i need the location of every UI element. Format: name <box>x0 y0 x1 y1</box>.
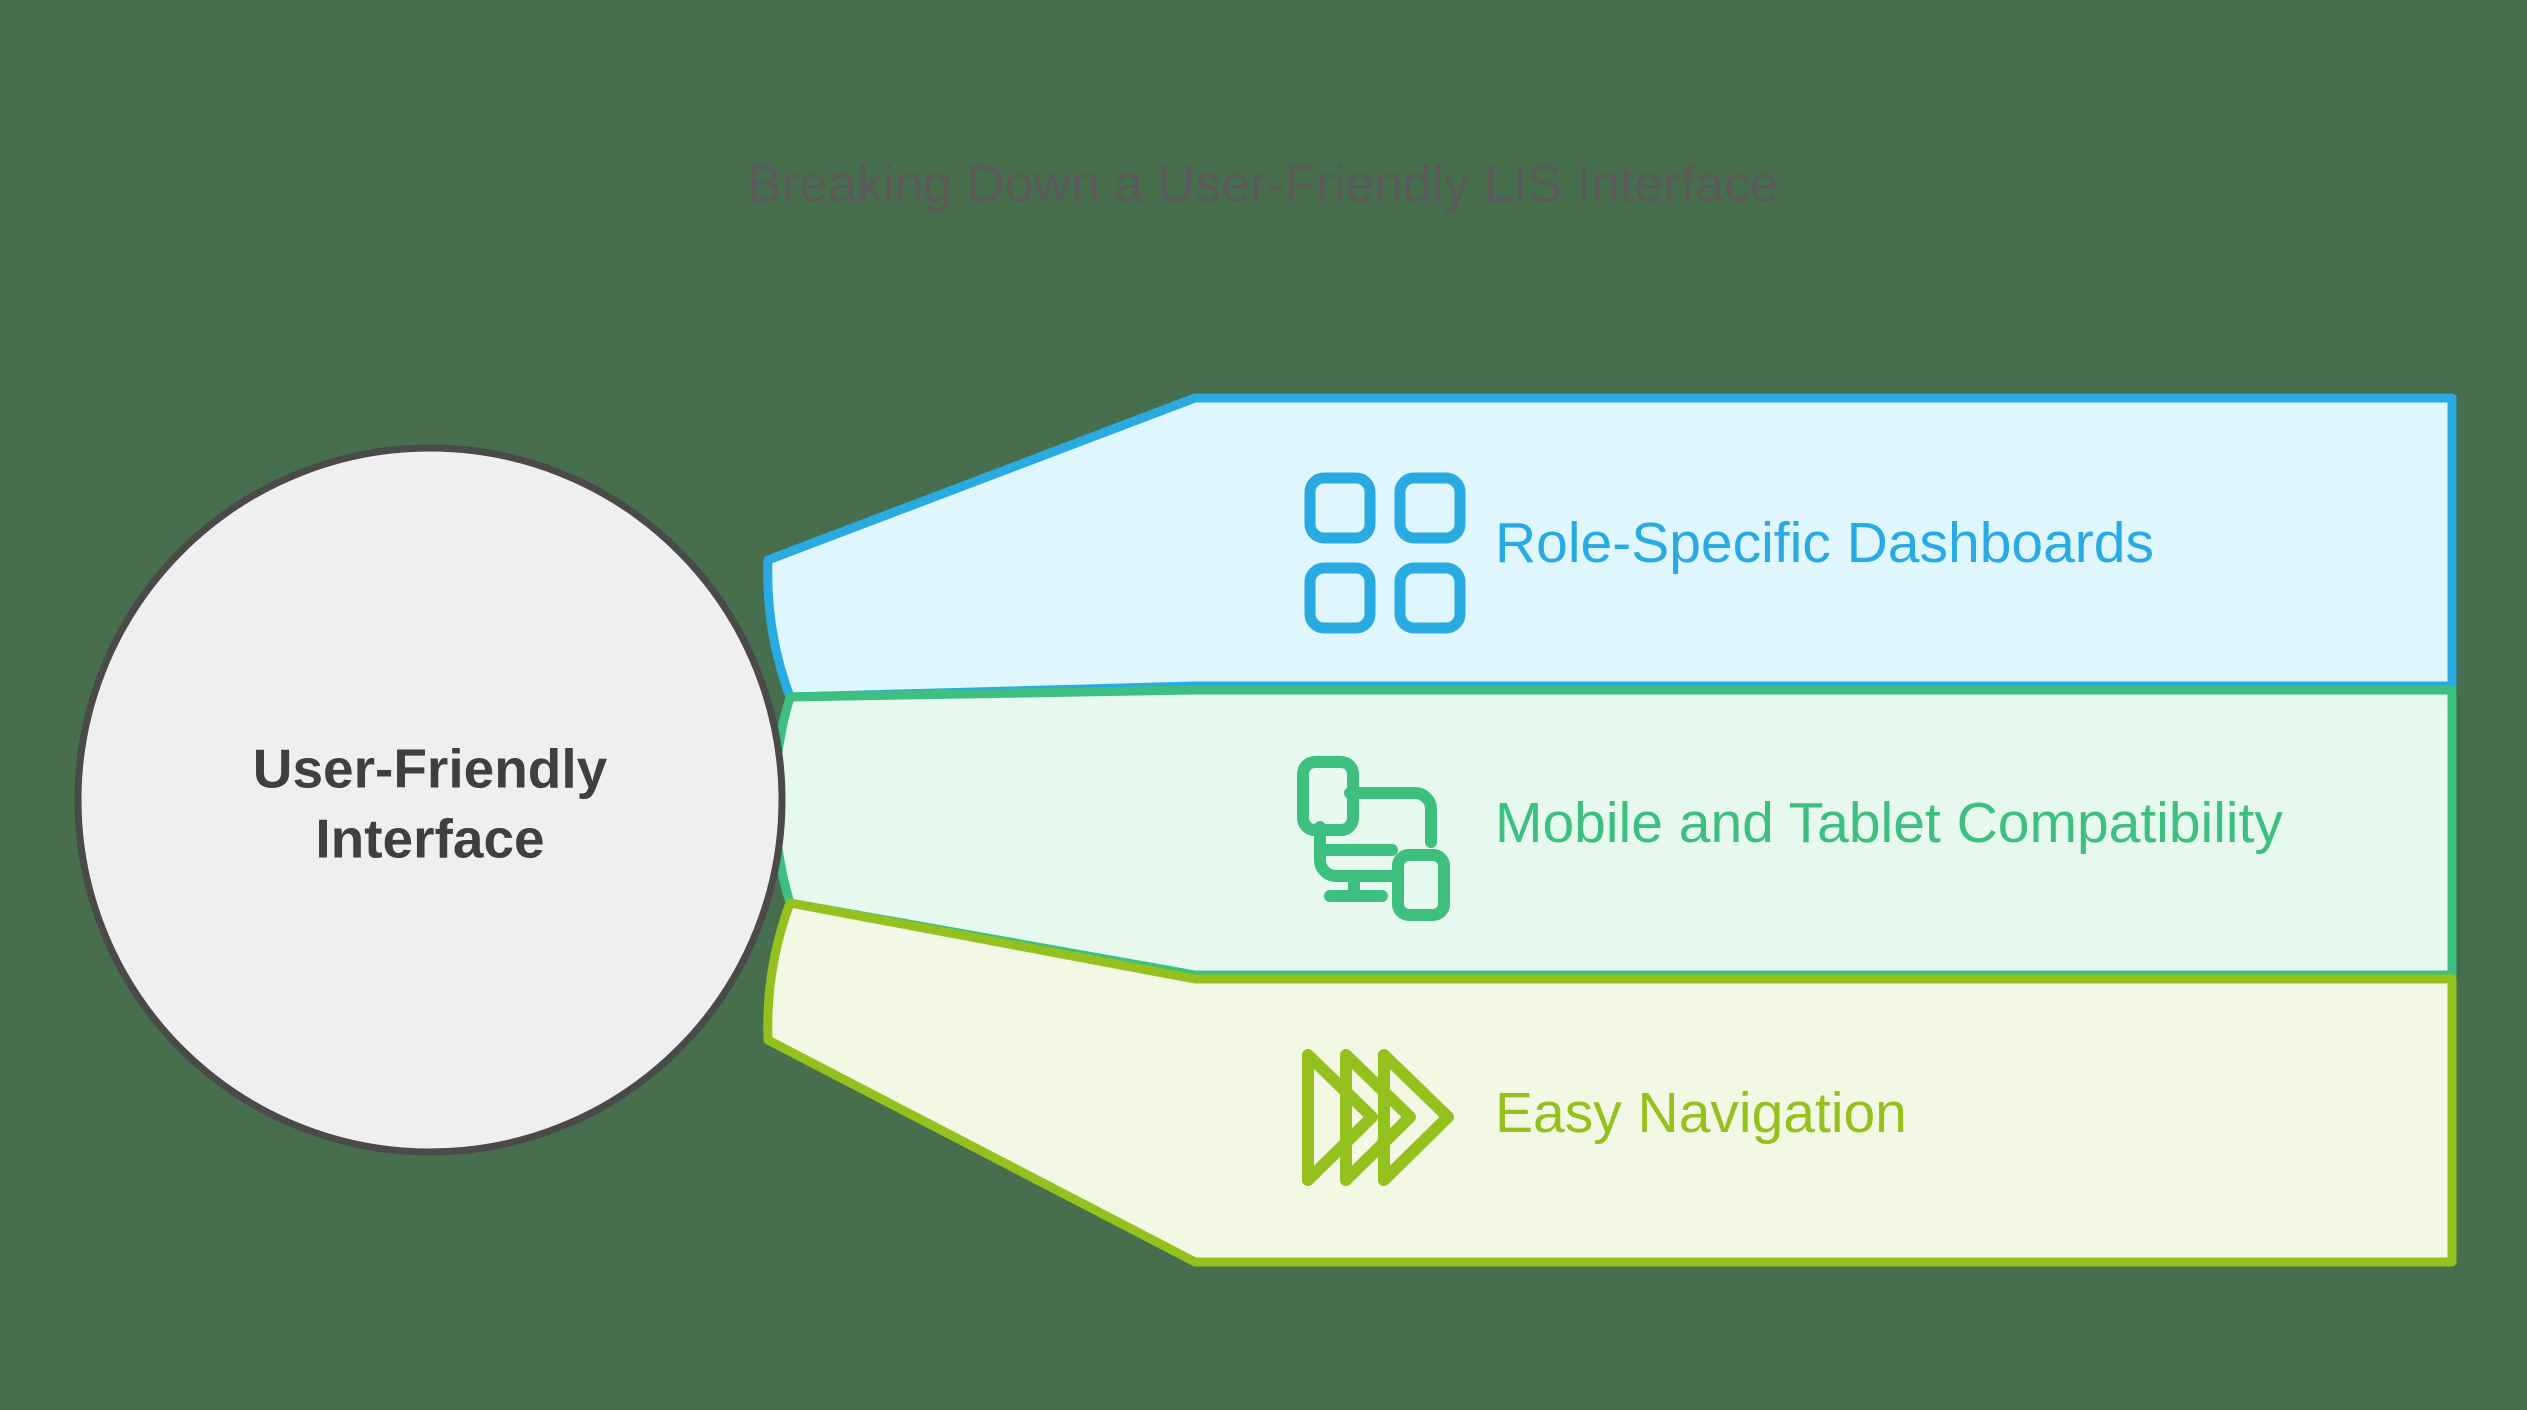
diagram-svg: Role-Specific Dashboards Mobile and Tabl… <box>0 0 2527 1410</box>
hub-node[interactable]: User-Friendly Interface <box>78 448 782 1152</box>
branch-2-label: Mobile and Tablet Compatibility <box>1495 791 2283 855</box>
hub-circle[interactable] <box>78 448 782 1152</box>
branch-3-label: Easy Navigation <box>1495 1081 1907 1145</box>
branch-role-specific-dashboards[interactable]: Role-Specific Dashboards <box>768 398 2452 697</box>
diagram-canvas: Role-Specific Dashboards Mobile and Tabl… <box>0 0 2527 1410</box>
hub-label-line-1: User-Friendly <box>253 738 608 800</box>
page-title: Breaking Down a User-Friendly LIS Interf… <box>747 156 1779 214</box>
branch-mobile-and-tablet-compatibility[interactable]: Mobile and Tablet Compatibility <box>775 690 2452 975</box>
hub-label-line-2: Interface <box>315 808 544 870</box>
branch-1-label: Role-Specific Dashboards <box>1495 511 2154 575</box>
